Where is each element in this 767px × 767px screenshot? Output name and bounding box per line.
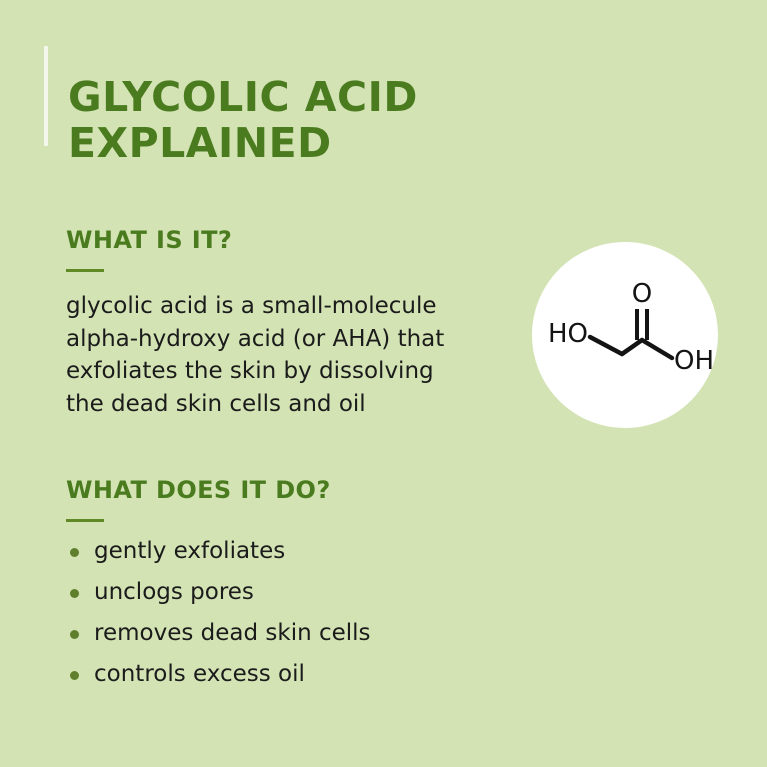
page-title: GLYCOLIC ACID EXPLAINED xyxy=(68,73,418,165)
glycolic-acid-molecule-icon: HO O OH xyxy=(532,242,718,428)
list-item: unclogs pores xyxy=(66,581,371,604)
list-item-label: controls excess oil xyxy=(94,661,305,687)
list-item-label: unclogs pores xyxy=(94,579,254,605)
bullet-dot-icon xyxy=(70,671,79,680)
list-item: removes dead skin cells xyxy=(66,622,371,645)
molecule-label-hydroxyl-right: OH xyxy=(674,346,714,376)
molecule-label-hydroxyl-left: HO xyxy=(548,319,588,349)
section-body-what-is-it: glycolic acid is a small-molecule alpha-… xyxy=(66,290,444,421)
section-what-is-it: WHAT IS IT? glycolic acid is a small-mol… xyxy=(66,228,444,421)
list-item-label: removes dead skin cells xyxy=(94,620,371,646)
title-block: GLYCOLIC ACID EXPLAINED xyxy=(44,46,418,193)
list-item: controls excess oil xyxy=(66,663,371,686)
molecule-badge: HO O OH xyxy=(532,242,718,428)
molecule-label-carbonyl-oxygen: O xyxy=(632,279,652,309)
bullet-dot-icon xyxy=(70,630,79,639)
infographic-canvas: GLYCOLIC ACID EXPLAINED WHAT IS IT? glyc… xyxy=(0,0,767,767)
section-rule xyxy=(66,269,104,272)
title-accent-bar xyxy=(44,46,48,146)
bond-ch2-to-carbonyl-carbon xyxy=(622,340,642,354)
section-heading-what-does-it-do: WHAT DOES IT DO? xyxy=(66,478,371,502)
list-item-label: gently exfoliates xyxy=(94,538,285,564)
bullet-dot-icon xyxy=(70,548,79,557)
bond-hydroxyl-to-ch2 xyxy=(590,337,622,354)
list-item: gently exfoliates xyxy=(66,540,371,563)
bullet-dot-icon xyxy=(70,589,79,598)
section-what-does-it-do: WHAT DOES IT DO? gently exfoliates unclo… xyxy=(66,478,371,686)
benefits-list: gently exfoliates unclogs pores removes … xyxy=(66,540,371,686)
bond-carbon-to-hydroxyl-right xyxy=(642,340,672,358)
section-rule xyxy=(66,519,104,522)
section-heading-what-is-it: WHAT IS IT? xyxy=(66,228,444,252)
